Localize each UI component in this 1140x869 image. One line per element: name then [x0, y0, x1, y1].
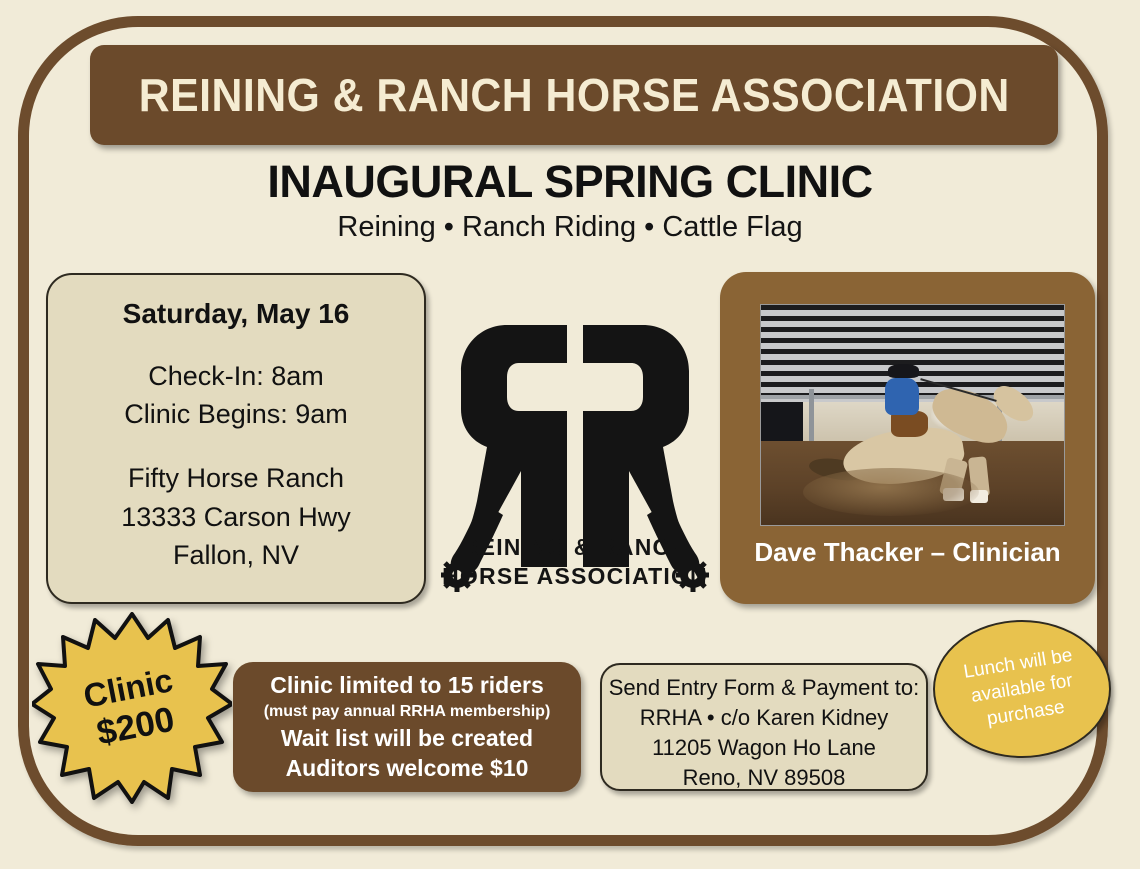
payment-recipient: RRHA • c/o Karen Kidney: [602, 703, 926, 733]
logo-line-2-text: HORSE ASSOCIATION: [442, 563, 708, 589]
payment-address-box: Send Entry Form & Payment to: RRHA • c/o…: [600, 663, 928, 791]
clinic-start-time: Clinic Begins: 9am: [48, 395, 424, 433]
arena-post: [809, 389, 814, 442]
payment-street: 11205 Wagon Ho Lane: [602, 733, 926, 763]
auditor-fee-note: Auditors welcome $10: [233, 754, 581, 784]
event-title: INAUGURAL SPRING CLINIC: [0, 158, 1140, 205]
venue-city-state: Fallon, NV: [48, 536, 424, 574]
logo-line-1-text: REINING & RANCH: [462, 534, 688, 560]
title-block: INAUGURAL SPRING CLINIC Reining • Ranch …: [0, 158, 1140, 244]
lunch-note-badge: Lunch will be available for purchase: [933, 620, 1111, 758]
event-subtitle: Reining • Ranch Riding • Cattle Flag: [0, 212, 1140, 244]
clinic-limits-box: Clinic limited to 15 riders (must pay an…: [233, 662, 581, 792]
organization-title: REINING & RANCH HORSE ASSOCIATION: [138, 68, 1009, 122]
header-banner: REINING & RANCH HORSE ASSOCIATION: [90, 45, 1058, 145]
rider-limit-text: Clinic limited to 15 riders: [233, 671, 581, 700]
rider-shirt: [885, 378, 918, 415]
spacer: [48, 433, 424, 459]
starburst-shape: [32, 614, 232, 802]
clinician-caption: Dave Thacker – Clinician: [720, 537, 1095, 568]
arena-wall-shadow: [761, 402, 803, 442]
clinician-panel: Dave Thacker – Clinician: [720, 272, 1095, 604]
check-in-time: Check-In: 8am: [48, 357, 424, 395]
rrha-logo: REINING & RANCH HORSE ASSOCIATION: [441, 305, 709, 595]
membership-note: (must pay annual RRHA membership): [233, 700, 581, 724]
venue-street: 13333 Carson Hwy: [48, 498, 424, 536]
event-date: Saturday, May 16: [48, 297, 424, 331]
payment-city-state-zip: Reno, NV 89508: [602, 763, 926, 793]
clinician-photo: [760, 304, 1065, 526]
payment-instruction: Send Entry Form & Payment to:: [602, 673, 926, 703]
event-details-card: Saturday, May 16 Check-In: 8am Clinic Be…: [46, 273, 426, 604]
spacer: [48, 331, 424, 357]
venue-name: Fifty Horse Ranch: [48, 459, 424, 497]
rider-hat: [888, 364, 918, 377]
flyer-page: REINING & RANCH HORSE ASSOCIATION INAUGU…: [0, 0, 1140, 869]
price-starburst-badge: Clinic $200: [32, 612, 232, 804]
lunch-note-text: Lunch will be available for purchase: [962, 643, 1082, 734]
wait-list-note: Wait list will be created: [233, 724, 581, 754]
dust-cloud: [803, 468, 979, 516]
